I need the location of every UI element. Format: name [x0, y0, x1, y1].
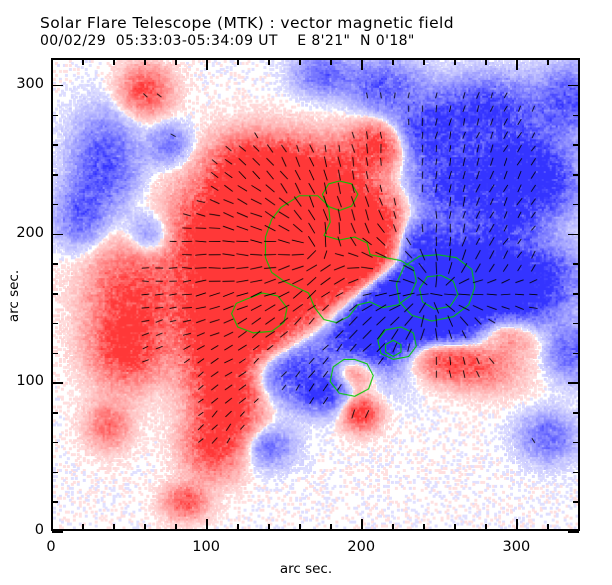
axis-tick	[423, 524, 425, 530]
page-title: Solar Flare Telescope (MTK) : vector mag…	[40, 14, 600, 33]
axis-tick	[330, 524, 332, 530]
axis-tick	[52, 85, 63, 87]
axis-tick	[268, 59, 270, 65]
axis-tick	[573, 412, 579, 414]
axis-tick	[113, 59, 115, 65]
axis-tick	[568, 382, 579, 384]
axis-tick	[568, 531, 579, 533]
axis-tick	[568, 234, 579, 236]
axis-tick	[299, 59, 301, 65]
axis-tick	[485, 524, 487, 530]
axis-tick	[361, 519, 363, 530]
axis-tick	[52, 323, 58, 325]
axis-tick	[299, 524, 301, 530]
plot-frame	[51, 58, 580, 531]
y-axis-title: arc sec.	[6, 256, 22, 336]
axis-tick	[547, 59, 549, 65]
magnetogram-figure: Solar Flare Telescope (MTK) : vector mag…	[0, 0, 612, 585]
y-tick-label: 100	[4, 373, 44, 389]
axis-tick	[392, 524, 394, 530]
axis-tick	[206, 519, 208, 530]
axis-tick	[573, 323, 579, 325]
axis-tick	[52, 472, 58, 474]
axis-tick	[392, 59, 394, 65]
axis-tick	[361, 59, 363, 70]
axis-tick	[573, 115, 579, 117]
axis-tick	[573, 263, 579, 265]
axis-tick	[573, 204, 579, 206]
axis-tick	[52, 144, 58, 146]
observation-subtitle: 00/02/29 05:33:03-05:34:09 UT E 8'21" N …	[40, 33, 600, 50]
figure-title-block: Solar Flare Telescope (MTK) : vector mag…	[40, 14, 600, 50]
axis-tick	[568, 85, 579, 87]
axis-tick	[52, 263, 58, 265]
axis-tick	[578, 524, 580, 530]
axis-tick	[573, 353, 579, 355]
axis-tick	[52, 174, 58, 176]
axis-tick	[485, 59, 487, 65]
magnetogram-image	[53, 60, 578, 529]
axis-tick	[113, 524, 115, 530]
axis-tick	[454, 524, 456, 530]
axis-tick	[52, 293, 58, 295]
axis-tick	[52, 204, 58, 206]
axis-tick	[573, 472, 579, 474]
axis-tick	[52, 382, 63, 384]
y-tick-label: 300	[4, 76, 44, 92]
axis-tick	[573, 442, 579, 444]
axis-tick	[423, 59, 425, 65]
axis-tick	[52, 353, 58, 355]
axis-tick	[516, 59, 518, 70]
axis-tick	[175, 59, 177, 65]
axis-tick	[52, 412, 58, 414]
axis-tick	[268, 524, 270, 530]
axis-tick	[82, 524, 84, 530]
axis-tick	[51, 519, 53, 530]
axis-tick	[82, 59, 84, 65]
x-tick-label: 300	[486, 539, 546, 555]
axis-tick	[573, 501, 579, 503]
x-tick-label: 100	[176, 539, 236, 555]
y-tick-label: 200	[4, 225, 44, 241]
axis-tick	[206, 59, 208, 70]
y-tick-label: 0	[4, 522, 44, 538]
axis-tick	[52, 115, 58, 117]
axis-tick	[52, 501, 58, 503]
axis-tick	[52, 442, 58, 444]
axis-tick	[573, 293, 579, 295]
axis-tick	[573, 144, 579, 146]
axis-tick	[547, 524, 549, 530]
axis-tick	[144, 524, 146, 530]
axis-tick	[51, 59, 53, 70]
axis-tick	[573, 174, 579, 176]
axis-tick	[330, 59, 332, 65]
x-tick-label: 0	[21, 539, 81, 555]
axis-tick	[237, 59, 239, 65]
axis-tick	[454, 59, 456, 65]
axis-tick	[52, 234, 63, 236]
x-tick-label: 200	[331, 539, 391, 555]
axis-tick	[144, 59, 146, 65]
axis-tick	[237, 524, 239, 530]
axis-tick	[52, 531, 63, 533]
x-axis-title: arc sec.	[0, 561, 612, 577]
axis-tick	[175, 524, 177, 530]
axis-tick	[578, 59, 580, 65]
axis-tick	[516, 519, 518, 530]
